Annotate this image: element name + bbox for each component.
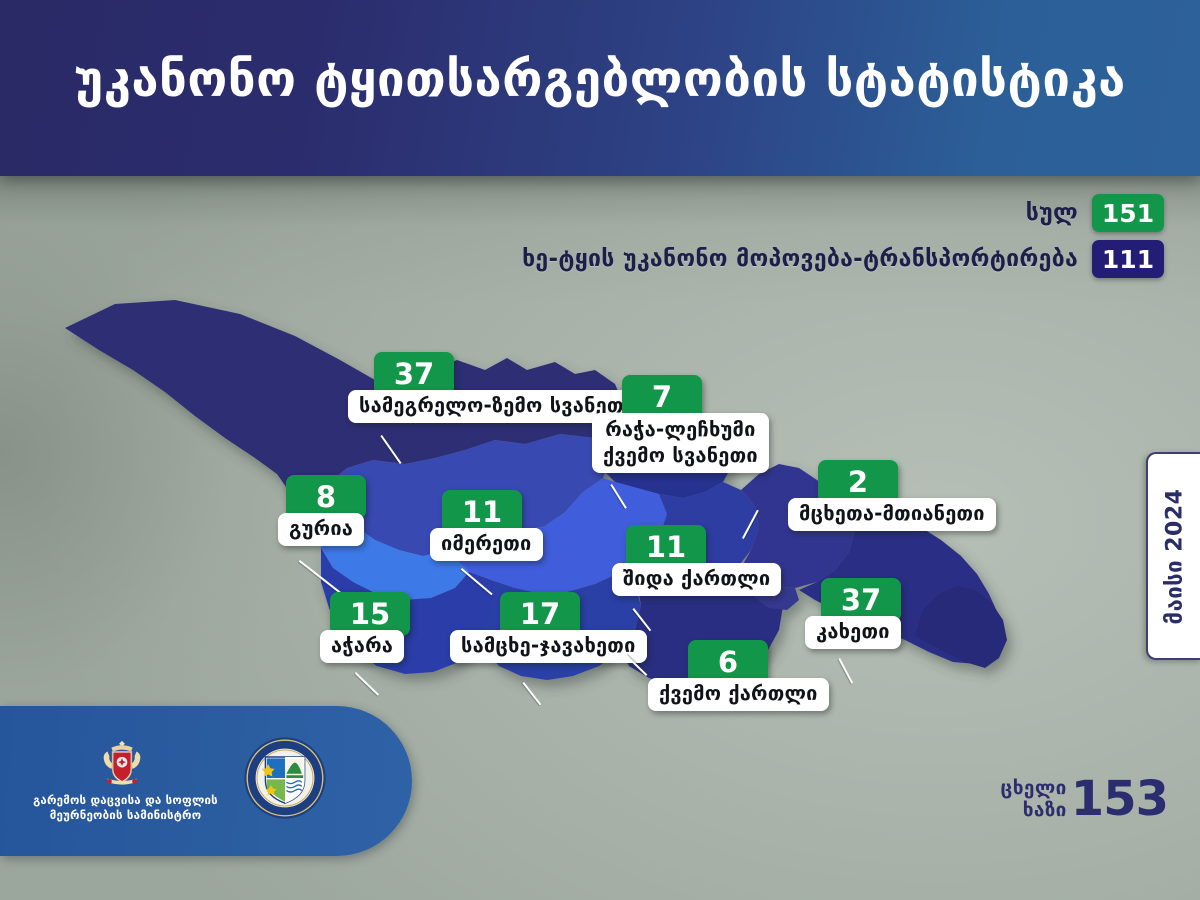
total-label-timber: ხე-ტყის უკანონო მოპოვება-ტრანსპორტირება	[522, 246, 1078, 272]
marker-imereti: 11 იმერეთი	[430, 490, 543, 561]
total-label-all: სულ	[1026, 200, 1078, 226]
hotline-label-line1: ცხელი	[1001, 777, 1067, 799]
region-name-plate: სამცხე-ჯავახეთი	[450, 630, 647, 663]
region-name-plate: იმერეთი	[430, 528, 543, 561]
hotline-number: 153	[1071, 775, 1168, 823]
marker-kvemo-kartli: 6 ქვემო ქართლი	[648, 640, 829, 711]
hotline-label: ცხელი ხაზი	[1001, 777, 1067, 821]
hotline-label-line2: ხაზი	[1001, 799, 1067, 821]
total-row-timber: ხე-ტყის უკანონო მოპოვება-ტრანსპორტირება …	[364, 240, 1164, 278]
region-name-plate: მცხეთა-მთიანეთი	[788, 498, 996, 531]
ministry-name-line2: მეურნეობის სამინისტრო	[18, 808, 233, 823]
marker-racha-lechkhumi: 7 რაჭა-ლეჩხუმი ქვემო სვანეთი	[592, 375, 769, 473]
marker-mtskheta-mtianeti: 2 მცხეთა-მთიანეთი	[788, 460, 996, 531]
georgia-coat-of-arms-icon	[92, 737, 152, 795]
region-name-plate: ქვემო ქართლი	[648, 678, 829, 711]
region-name-plate: გურია	[278, 513, 364, 546]
totals-block: სულ 151 ხე-ტყის უკანონო მოპოვება-ტრანსპო…	[364, 194, 1164, 286]
region-name-line1: რაჭა-ლეჩხუმი	[605, 417, 755, 441]
infographic-root: უკანონო ტყითსარგებლობის სტატისტიკა სულ 1…	[0, 0, 1200, 900]
marker-kakheti: 37 კახეთი	[805, 578, 901, 649]
total-row-all: სულ 151	[364, 194, 1164, 232]
region-name-plate: რაჭა-ლეჩხუმი ქვემო სვანეთი	[592, 413, 769, 473]
ministry-name: გარემოს დაცვისა და სოფლის მეურნეობის სამ…	[18, 793, 233, 823]
marker-adjara: 15 აჭარა	[320, 592, 410, 663]
hotline-block: ცხელი ხაზი 153	[1001, 775, 1168, 823]
footer-bar	[0, 706, 412, 856]
date-tab-label: მაისი 2024	[1163, 488, 1188, 624]
region-name-line2: ქვემო სვანეთი	[603, 443, 758, 467]
marker-samtskhe-javakheti: 17 სამცხე-ჯავახეთი	[450, 592, 647, 663]
ministry-name-line1: გარემოს დაცვისა და სოფლის	[18, 793, 233, 808]
marker-guria: 8 გურია	[278, 475, 366, 546]
header-banner: უკანონო ტყითსარგებლობის სტატისტიკა	[0, 0, 1200, 176]
page-title: უკანონო ტყითსარგებლობის სტატისტიკა	[0, 48, 1200, 112]
marker-shida-kartli: 11 შიდა ქართლი	[612, 525, 781, 596]
total-value-timber: 111	[1092, 240, 1164, 278]
ministry-seal-icon	[243, 736, 327, 820]
region-name-plate: აჭარა	[320, 630, 404, 663]
date-tab: მაისი 2024	[1146, 452, 1200, 660]
total-value-all: 151	[1092, 194, 1164, 232]
